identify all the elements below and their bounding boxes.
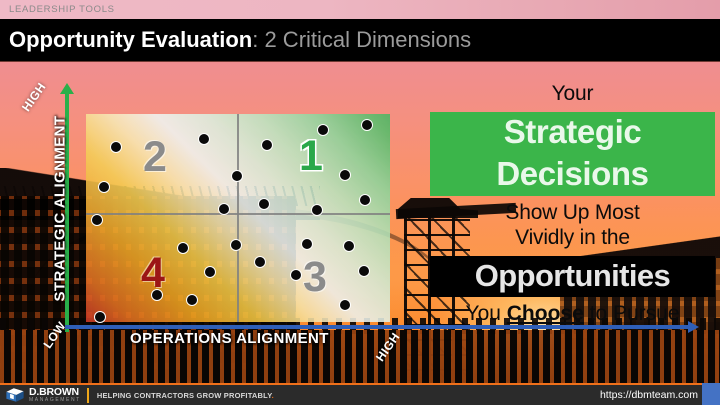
green-highlight-decisions: Decisions [430, 154, 715, 196]
matrix-dot [261, 139, 273, 151]
matrix-dot [290, 269, 302, 281]
matrix-dot [186, 294, 198, 306]
green-highlight-strategic: Strategic [430, 112, 715, 154]
footer-url[interactable]: https://dbmteam.com [600, 389, 698, 401]
y-axis-arrow-icon [60, 83, 74, 94]
matrix-dot [258, 198, 270, 210]
dbrown-cube-icon [5, 387, 25, 403]
y-axis-label: STRATEGIC ALIGNMENT [52, 104, 69, 314]
black-highlight-opportunities: Opportunities [430, 256, 715, 297]
message-line-1: Your [430, 82, 715, 107]
quadrant-label-1: 1 [299, 135, 323, 178]
matrix-horizontal-divider [86, 213, 390, 215]
slide-canvas: LEADERSHIP TOOLS Opportunity Evaluation:… [0, 0, 720, 405]
page-title: Opportunity Evaluation: 2 Critical Dimen… [9, 29, 471, 51]
matrix-dot [343, 240, 355, 252]
matrix-vertical-divider [237, 114, 239, 322]
message-line-3: Vividly in the [430, 226, 715, 251]
message-line-2: Show Up Most [430, 201, 715, 226]
kicker-bar: LEADERSHIP TOOLS [0, 0, 720, 19]
quadrant-label-4: 4 [141, 252, 165, 295]
matrix-dot [230, 239, 242, 251]
brand-name: D.BROWN [29, 387, 81, 398]
brand-logo[interactable]: D.BROWN MANAGEMENT [5, 387, 81, 404]
matrix-dot [204, 266, 216, 278]
matrix-dot [94, 311, 106, 323]
matrix-dot [231, 170, 243, 182]
matrix-dot [339, 299, 351, 311]
matrix-dot [359, 194, 371, 206]
message-last-post: to Pursue [584, 302, 680, 325]
matrix-dot [198, 133, 210, 145]
matrix-dot [311, 204, 323, 216]
matrix-dot [254, 256, 266, 268]
footer-tagline-text: HELPING CONTRACTORS GROW PROFITABLY [97, 391, 272, 400]
matrix-dot [339, 169, 351, 181]
footer-bar: D.BROWN MANAGEMENT HELPING CONTRACTORS G… [0, 383, 720, 405]
quadrant-label-3: 3 [303, 256, 327, 299]
message-last-emphasis: Choose [507, 302, 584, 325]
matrix-dot [177, 242, 189, 254]
right-message-panel: Your Strategic Decisions Show Up Most Vi… [430, 82, 715, 326]
matrix-dot [358, 265, 370, 277]
brand-subtitle: MANAGEMENT [29, 398, 81, 403]
footer-blue-accent [702, 383, 720, 405]
message-last-pre: You [465, 302, 506, 325]
matrix-dot [98, 181, 110, 193]
matrix-dot [91, 214, 103, 226]
kicker-label: LEADERSHIP TOOLS [9, 4, 115, 15]
matrix-dot [301, 238, 313, 250]
matrix-dot [361, 119, 373, 131]
footer-tagline: HELPING CONTRACTORS GROW PROFITABLY. [97, 391, 274, 400]
quadrant-label-2: 2 [143, 136, 167, 179]
message-line-last: You Choose to Pursue [430, 301, 715, 326]
footer-divider [87, 388, 89, 403]
matrix-dot [110, 141, 122, 153]
page-title-strong: Opportunity Evaluation [9, 27, 252, 52]
brand-logo-text: D.BROWN MANAGEMENT [29, 387, 81, 404]
matrix-dot [218, 203, 230, 215]
title-bar: Opportunity Evaluation: 2 Critical Dimen… [0, 19, 720, 62]
page-title-rest: : 2 Critical Dimensions [252, 27, 471, 52]
x-axis-label: OPERATIONS ALIGNMENT [130, 330, 329, 347]
matrix-dot [317, 124, 329, 136]
footer-tagline-period: . [272, 391, 274, 400]
matrix-dot [151, 289, 163, 301]
